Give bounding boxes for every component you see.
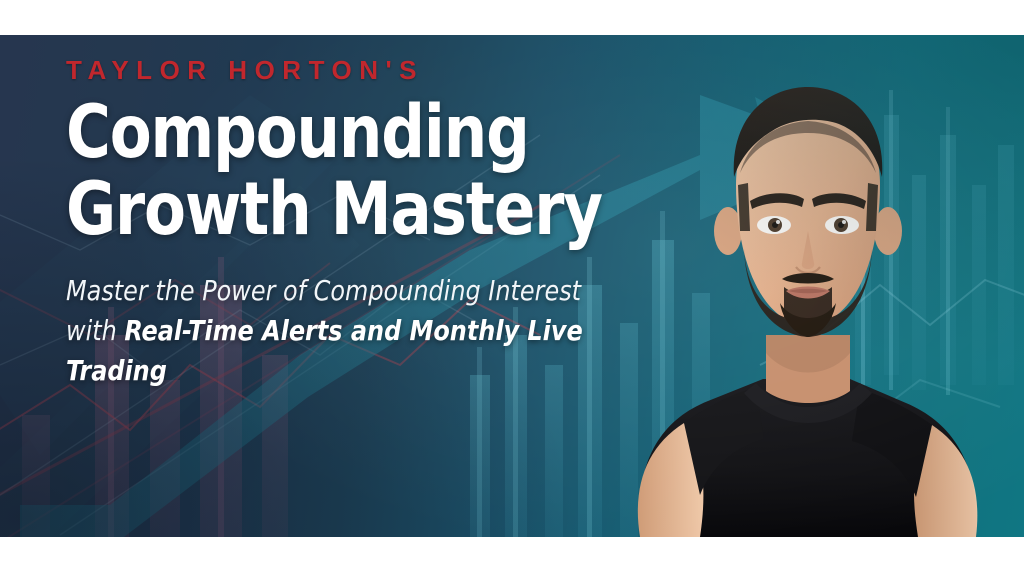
eyebrow-text: TAYLOR HORTON'S bbox=[66, 57, 666, 83]
headline-line-2: Growth Mastery bbox=[66, 174, 624, 246]
subtitle: Master the Power of Compounding Interest… bbox=[66, 271, 598, 390]
banner-screen: TAYLOR HORTON'S Compounding Growth Maste… bbox=[0, 0, 1024, 576]
headline-line-1: Compounding bbox=[66, 97, 624, 169]
letterbox-bottom bbox=[0, 537, 1024, 576]
promo-banner: TAYLOR HORTON'S Compounding Growth Maste… bbox=[0, 35, 1024, 537]
subtitle-emphasis: Real-Time Alerts and Monthly Live Tradin… bbox=[66, 314, 583, 387]
banner-copy: TAYLOR HORTON'S Compounding Growth Maste… bbox=[66, 57, 666, 390]
page-title: Compounding Growth Mastery bbox=[66, 97, 624, 245]
letterbox-top bbox=[0, 0, 1024, 35]
